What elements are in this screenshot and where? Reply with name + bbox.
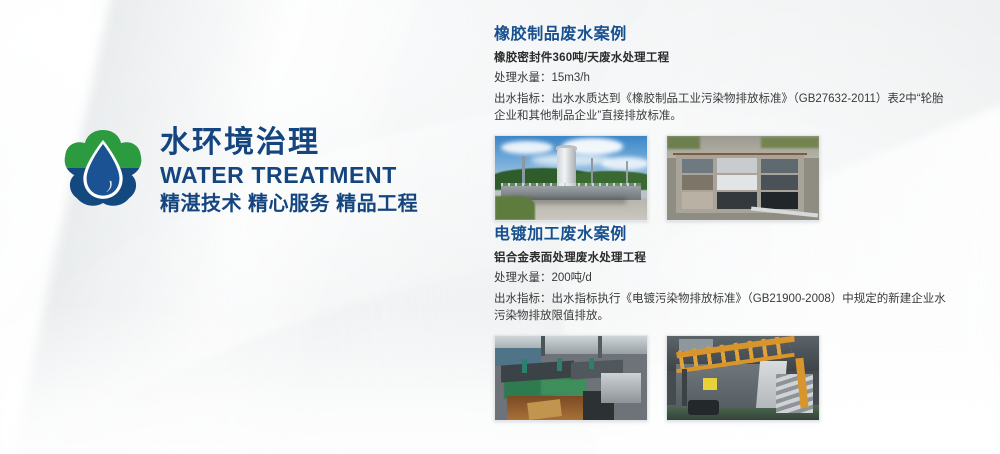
brand-slogan: 精湛技术 精心服务 精品工程 [160, 194, 418, 214]
water-treatment-banner: 水环境治理 WATER TREATMENT 精湛技术 精心服务 精品工程 橡胶制… [0, 0, 1000, 454]
case-photo-gallery: indoor electroplating treatment tanks wi… [494, 335, 956, 421]
water-drop-flower-logo-icon [62, 128, 144, 214]
case-study-rubber: 橡胶制品废水案例 橡胶密封件360吨/天废水处理工程 处理水量：15m3/h 出… [494, 26, 956, 221]
case-discharge-target: 出水指标：出水水质达到《橡胶制品工业污染物排放标准》（GB27632-2011）… [494, 91, 946, 125]
brand-text: 水环境治理 WATER TREATMENT 精湛技术 精心服务 精品工程 [160, 128, 418, 214]
case-photo-gallery: outdoor wastewater plant with storage si… [494, 135, 956, 221]
case-title: 橡胶制品废水案例 [494, 26, 956, 44]
case-capacity: 处理水量：15m3/h [494, 71, 956, 85]
photo-aerial-basins: aerial view of rectangular treatment bas… [666, 135, 820, 221]
background-ribbon-6 [0, 0, 425, 454]
case-capacity: 处理水量：200吨/d [494, 271, 956, 285]
photo-outdoor-plant-silo: outdoor wastewater plant with storage si… [494, 135, 648, 221]
photo-indoor-plating-tanks: indoor electroplating treatment tanks wi… [494, 335, 648, 421]
brand-name-cn: 水环境治理 [160, 128, 418, 158]
case-subtitle: 橡胶密封件360吨/天废水处理工程 [494, 52, 956, 66]
case-subtitle: 铝合金表面处理废水处理工程 [494, 252, 956, 266]
case-study-electroplating: 电镀加工废水案例 铝合金表面处理废水处理工程 处理水量：200吨/d 出水指标：… [494, 226, 956, 421]
photo-tank-orange-guardrail: grey steel tank with orange guardrail an… [666, 335, 820, 421]
background-ribbon-8 [0, 0, 401, 454]
brand-name-en: WATER TREATMENT [160, 164, 418, 187]
brand-logo-block: 水环境治理 WATER TREATMENT 精湛技术 精心服务 精品工程 [62, 128, 418, 214]
case-title: 电镀加工废水案例 [494, 226, 956, 244]
case-discharge-target: 出水指标：出水指标执行《电镀污染物排放标准》（GB21900-2008）中规定的… [494, 291, 946, 325]
